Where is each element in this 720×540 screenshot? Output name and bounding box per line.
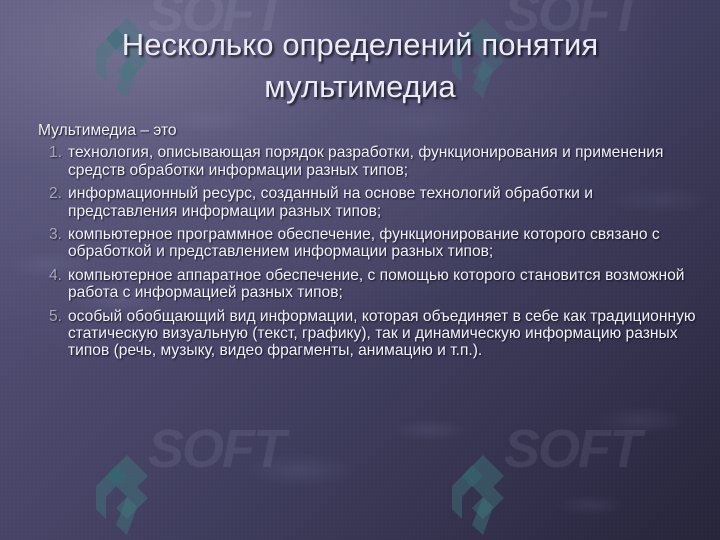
watermark-text: SOFT bbox=[148, 418, 284, 480]
list-item-text: компьютерное программное обеспечение, фу… bbox=[68, 226, 702, 261]
list-item: 4. компьютерное аппаратное обеспечение, … bbox=[30, 267, 702, 302]
list-item-text: информационный ресурс, созданный на осно… bbox=[68, 185, 702, 220]
list-item-number: 5. bbox=[38, 308, 62, 325]
lead-text: Мультимедиа – это bbox=[30, 122, 702, 139]
list-item-number: 1. bbox=[38, 144, 62, 161]
list-item-number: 4. bbox=[38, 267, 62, 284]
list-item-text: компьютерное аппаратное обеспечение, с п… bbox=[68, 267, 702, 302]
list-item-text: особый обобщающий вид информации, котора… bbox=[68, 308, 702, 360]
list-item-text: технология, описывающая порядок разработ… bbox=[68, 144, 702, 179]
list-item-number: 2. bbox=[38, 185, 62, 202]
page-title-line-2: мультимедиа bbox=[40, 66, 680, 108]
list-item: 3. компьютерное программное обеспечение,… bbox=[30, 226, 702, 261]
list-item: 2. информационный ресурс, созданный на о… bbox=[30, 185, 702, 220]
watermark-text: SOFT bbox=[504, 418, 640, 480]
s-mark-logo-icon bbox=[96, 455, 158, 535]
definition-list: 1. технология, описывающая порядок разра… bbox=[30, 144, 702, 359]
list-item-number: 3. bbox=[38, 226, 62, 243]
slide-body: Мультимедиа – это 1. технология, описыва… bbox=[30, 122, 702, 366]
page-title-line-1: Несколько определений понятия bbox=[40, 24, 680, 66]
page-title: Несколько определений понятия мультимеди… bbox=[40, 24, 680, 108]
presentation-slide: SOFT SOFT SOFT SOFT Несколько определени… bbox=[0, 0, 720, 540]
list-item: 5. особый обобщающий вид информации, кот… bbox=[30, 308, 702, 360]
list-item: 1. технология, описывающая порядок разра… bbox=[30, 144, 702, 179]
s-mark-logo-icon bbox=[452, 455, 514, 535]
